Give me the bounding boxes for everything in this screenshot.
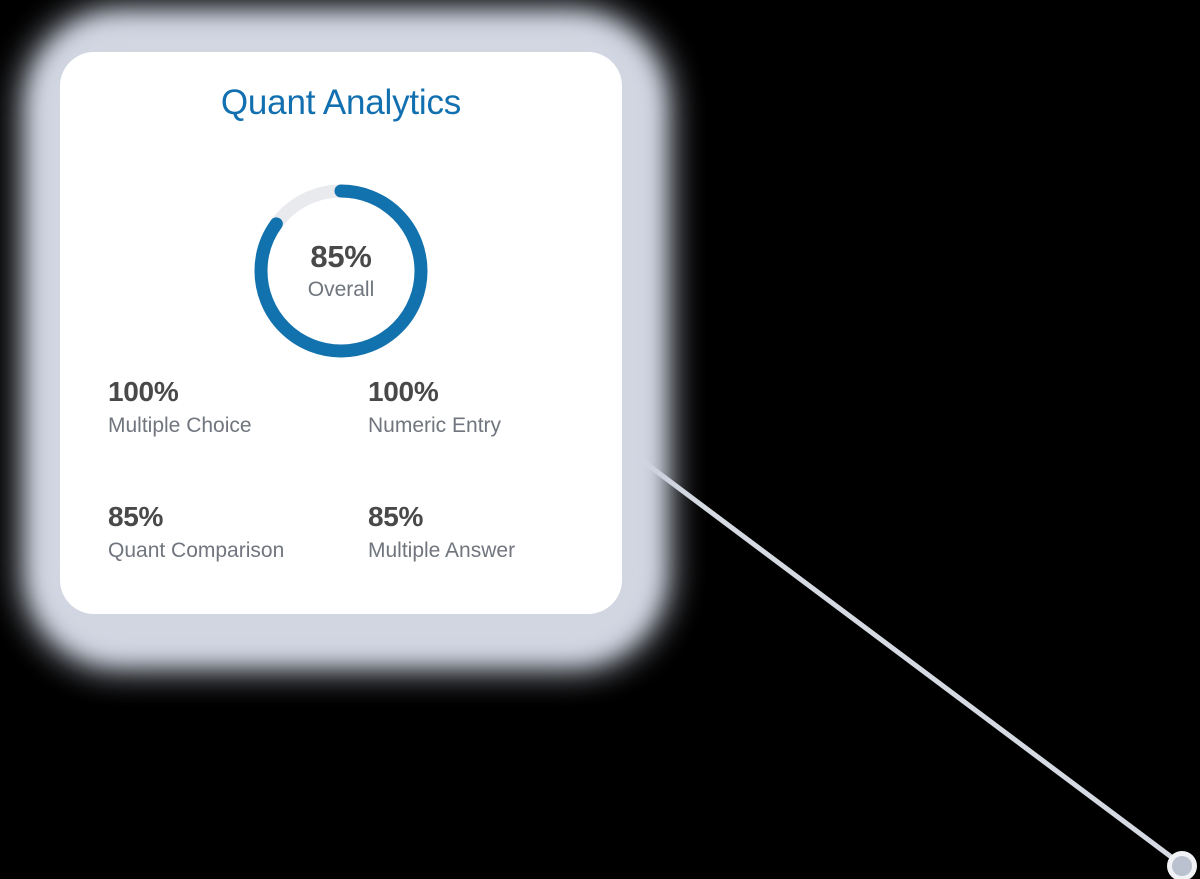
stat-value: 85% (108, 499, 368, 534)
quant-analytics-card[interactable]: Quant Analytics 85% Overall 100% Multipl… (60, 52, 622, 614)
gauge-value: 85% (310, 241, 371, 274)
stat-value: 100% (368, 374, 578, 409)
callout-endpoint-dot[interactable] (1172, 856, 1192, 876)
stat-label: Quant Comparison (108, 537, 368, 564)
stat-value: 100% (108, 374, 368, 409)
callout-endpoint-ring (1167, 851, 1197, 879)
stat-label: Multiple Choice (108, 412, 368, 439)
stat-item-multiple-answer: 85% Multiple Answer (368, 499, 578, 564)
stat-item-quant-comparison: 85% Quant Comparison (108, 499, 368, 564)
stats-grid: 100% Multiple Choice 100% Numeric Entry … (108, 374, 578, 565)
screen-root: Quant Analytics 85% Overall 100% Multipl… (0, 0, 1200, 879)
stat-label: Multiple Answer (368, 537, 578, 564)
stat-item-multiple-choice: 100% Multiple Choice (108, 374, 368, 439)
stat-label: Numeric Entry (368, 412, 578, 439)
page-title: Quant Analytics (60, 82, 622, 124)
gauge-label: Overall (308, 278, 375, 301)
stat-item-numeric-entry: 100% Numeric Entry (368, 374, 578, 439)
stat-value: 85% (368, 499, 578, 534)
gauge-center-text: 85% Overall (245, 175, 437, 367)
callout-line (612, 438, 1178, 862)
overall-score-gauge: 85% Overall (245, 175, 437, 367)
